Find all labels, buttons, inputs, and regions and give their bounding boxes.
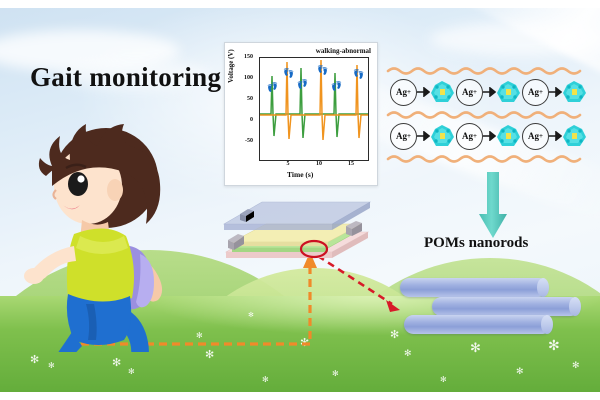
polymer-chain [386,66,592,75]
chart-x-axis-label: Time (s) [287,170,313,179]
y-tick: 0 [229,117,253,123]
ag-pom-unit: Ag+ [390,123,456,150]
ion-text: Ag [528,87,539,97]
flower-icon: ✻ [262,374,269,385]
flower-icon: ✻ [205,350,214,361]
ion-text: Ag [462,87,473,97]
flower-icon: ✻ [112,358,121,369]
walking-boy-character [22,104,194,352]
ag-pom-unit: Ag+ [522,79,588,106]
arrow-right-icon [483,87,496,97]
arrow-right-icon [417,131,430,141]
ion-text: Ag [528,131,539,141]
ion-text: Ag [396,131,407,141]
y-tick: 50 [229,96,253,102]
frame-top-border [0,0,600,8]
y-tick: 100 [229,75,253,81]
chart-annotation: walking-abnormal [316,47,371,55]
series-right-foot [260,60,368,140]
flower-icon: ✻ [128,366,135,377]
footprint-icon: 👣 [317,66,328,75]
ag-pom-unit: Ag+ [390,79,456,106]
arrow-right-icon [549,87,562,97]
ion-charge: + [539,132,543,140]
flower-icon: ✻ [390,330,399,341]
footprint-icon: 👣 [283,69,294,78]
flower-icon: ✻ [332,368,339,379]
ag-pom-unit: Ag+ [456,79,522,106]
ion-charge: + [407,88,411,96]
ag-pom-unit: Ag+ [522,123,588,150]
ion-text: Ag [396,87,407,97]
flower-icon: ✻ [196,330,203,341]
chart-traces [260,58,368,160]
silver-ion-label: Ag+ [522,79,549,106]
silver-ion-label: Ag+ [390,123,417,150]
polymer-chain [386,154,592,163]
nanorod [404,315,552,334]
pom-cluster-icon [562,124,587,148]
flower-icon: ✻ [440,374,447,385]
x-tick: 10 [312,161,326,167]
nanorod-cap [537,278,549,297]
frame-bottom-border [0,392,600,400]
flower-icon: ✻ [48,360,55,371]
teal-down-arrow-icon [478,172,508,238]
arrow-right-icon [549,131,562,141]
arrow-right-icon [417,87,430,97]
pom-cluster-icon [496,124,521,148]
footprint-icon: 👣 [353,70,364,79]
silver-ion-label: Ag+ [456,123,483,150]
ion-charge: + [473,88,477,96]
shorts [67,294,131,345]
ag-pom-unit: Ag+ [456,123,522,150]
pom-cluster-icon [562,80,587,104]
hand [24,268,44,284]
silver-ion-label: Ag+ [390,79,417,106]
y-tick: -50 [229,138,253,144]
nanorod-cap [541,315,553,334]
pom-cluster-icon [430,124,455,148]
arrow-right-icon [483,131,496,141]
y-tick: 150 [229,54,253,60]
scheme-row: Ag+ Ag+ [390,122,590,150]
flower-icon: ✻ [248,310,254,321]
series-left-foot [260,68,368,138]
flower-icon: ✻ [572,360,580,371]
product-label: POMs nanorods [424,235,528,252]
footprint-icon: 👣 [267,83,278,92]
ion-charge: + [473,132,477,140]
gait-signal-chart: walking-abnormal Voltage (V) 150 100 50 … [224,42,378,186]
footprint-icon: 👣 [297,80,308,89]
scheme-row: Ag+ Ag+ [390,78,590,106]
flower-icon: ✻ [300,338,309,349]
ion-charge: + [407,132,411,140]
x-tick: 5 [281,161,295,167]
footprint-icon: 👣 [331,82,342,91]
x-tick: 15 [344,161,358,167]
pom-cluster-icon [430,80,455,104]
pom-cluster-icon [496,80,521,104]
flower-icon: ✻ [30,355,39,366]
ion-charge: + [539,88,543,96]
nanorod [400,278,548,297]
page-title: Gait monitoring [30,62,221,93]
flower-icon: ✻ [548,340,560,351]
eye [68,172,88,196]
flower-icon: ✻ [516,366,524,377]
graphical-abstract: ✻ ✻ ✻ ✻ ✻ ✻ ✻ ✻ ✻ ✻ ✻ ✻ ✻ ✻ ✻ ✻ ✻ [0,0,600,400]
nanorod-cap [569,297,581,316]
flower-icon: ✻ [404,348,412,359]
nanorod [432,297,580,316]
device-stack-diagram [222,196,372,274]
silver-ion-label: Ag+ [456,79,483,106]
silver-ion-label: Ag+ [522,123,549,150]
polymer-chain [386,110,592,119]
ag-pom-reaction-scheme: Ag+ Ag+ [386,66,592,162]
ion-text: Ag [462,131,473,141]
flower-icon: ✻ [470,342,481,353]
